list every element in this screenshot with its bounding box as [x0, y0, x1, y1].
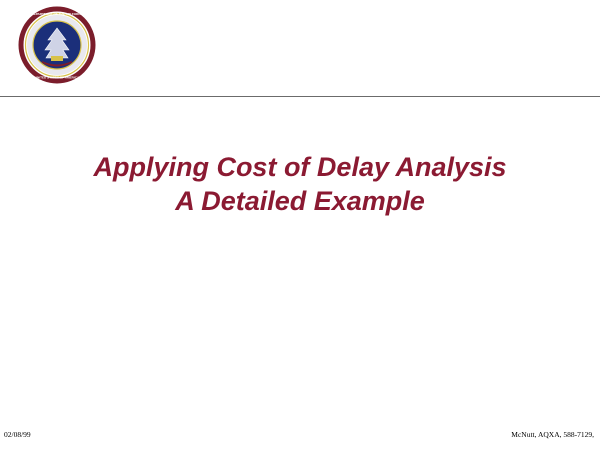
air-force-department-seal-icon: DEPARTMENT OF THE AIR FORCE UNITED STATE… [18, 6, 96, 84]
svg-text:UNITED STATES OF AMERICA: UNITED STATES OF AMERICA [35, 76, 80, 80]
header-band: DEPARTMENT OF THE AIR FORCE UNITED STATE… [0, 0, 600, 96]
svg-text:DEPARTMENT OF THE AIR FORCE: DEPARTMENT OF THE AIR FORCE [31, 12, 82, 16]
slide: DEPARTMENT OF THE AIR FORCE UNITED STATE… [0, 0, 600, 450]
title-line-2: A Detailed Example [0, 184, 600, 218]
footer-attribution: McNutt, AQXA, 588-7129, [511, 430, 594, 439]
header-divider [0, 96, 600, 97]
footer-date: 02/08/99 [4, 430, 31, 439]
title-line-1: Applying Cost of Delay Analysis [0, 150, 600, 184]
slide-title: Applying Cost of Delay Analysis A Detail… [0, 150, 600, 218]
